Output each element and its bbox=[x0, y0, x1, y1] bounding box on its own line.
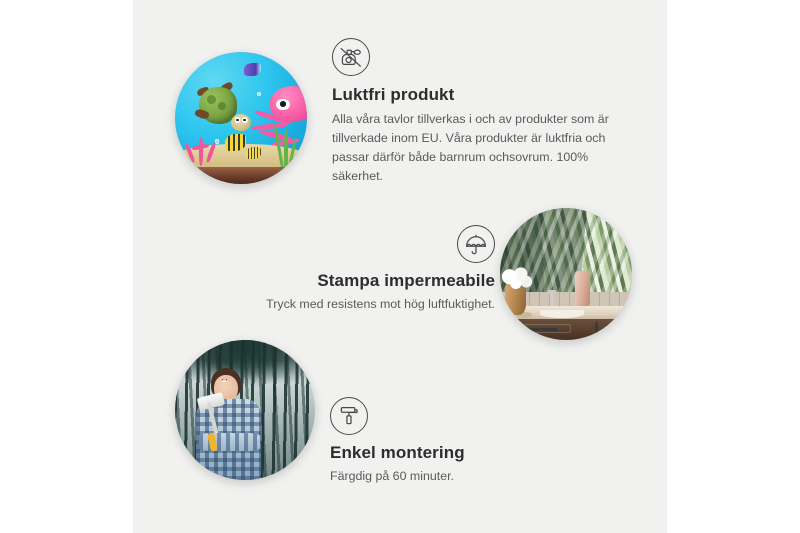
small-yellow-fish bbox=[246, 147, 261, 159]
feature-title: Stampa impermeabile bbox=[205, 271, 495, 291]
product-photo-ocean[interactable] bbox=[175, 52, 307, 184]
feature-description: Alla våra tavlor tillverkas i och av pro… bbox=[332, 110, 632, 185]
paint-roller-icon bbox=[330, 397, 368, 435]
purple-fish bbox=[244, 63, 261, 76]
product-photo-bathroom[interactable] bbox=[500, 208, 632, 340]
feature-odourless: Luktfri produkt Alla våra tavlor tillver… bbox=[332, 38, 632, 185]
soap-dispenser bbox=[575, 271, 590, 305]
feature-description: Tryck med resistens mot hög luftfuktighe… bbox=[205, 295, 495, 314]
woman-with-paint-roller bbox=[195, 368, 271, 480]
feature-waterproof: Stampa impermeabile Tryck med resistens … bbox=[205, 225, 495, 314]
feature-infographic: Luktfri produkt Alla våra tavlor tillver… bbox=[0, 0, 800, 533]
drawer-handle-icon bbox=[529, 328, 558, 331]
seagrass bbox=[275, 123, 296, 168]
product-photo-painter[interactable] bbox=[175, 340, 315, 480]
feature-assembly: Enkel montering Färgdig på 60 minuter. bbox=[330, 397, 590, 486]
no-odour-spray-bottle-icon bbox=[332, 38, 370, 76]
faucet bbox=[550, 290, 554, 307]
feature-title: Luktfri produkt bbox=[332, 85, 632, 105]
umbrella-icon bbox=[457, 225, 495, 263]
feature-description: Färgdig på 60 minuter. bbox=[330, 467, 590, 486]
pink-coral bbox=[183, 126, 223, 166]
sea-bed-rock bbox=[175, 167, 307, 184]
white-flowers bbox=[500, 265, 534, 291]
feature-title: Enkel montering bbox=[330, 443, 590, 463]
sink-basin bbox=[540, 310, 585, 318]
cabinet-handle-icon bbox=[595, 322, 598, 340]
